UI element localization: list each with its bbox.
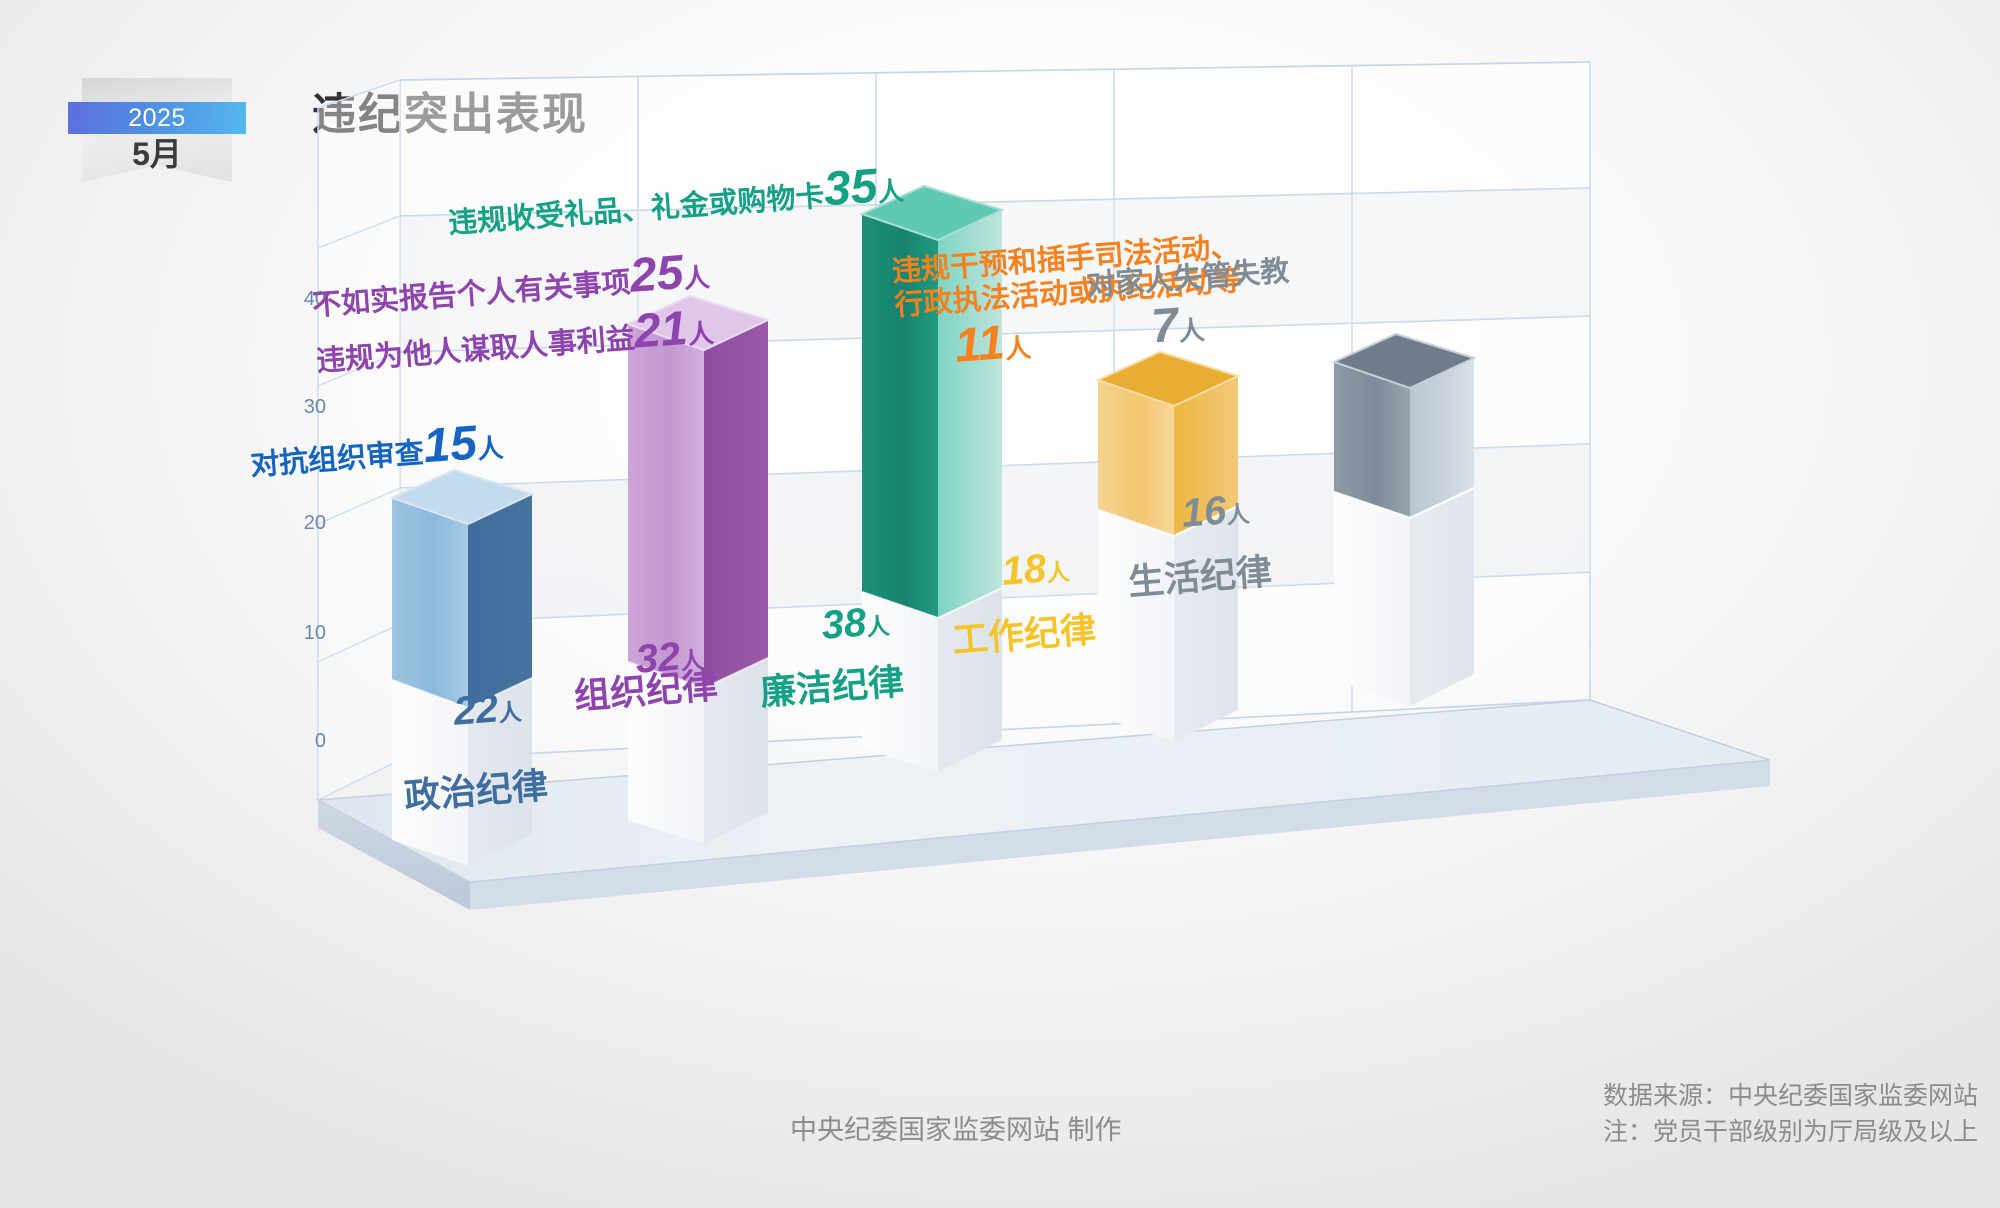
callout-political-unit: 人 [476, 433, 504, 465]
callout-political-value: 15 [422, 416, 479, 473]
infographic-canvas: 2025 5月 违纪突出表现 [0, 0, 2000, 1208]
value-life-number: 16 [1180, 489, 1228, 536]
footer-source: 数据来源：中央纪委国家监委网站 [1603, 1078, 1978, 1114]
bar-political[interactable] [392, 468, 562, 898]
value-political-unit: 人 [497, 699, 522, 727]
callout-life: 对家人失管失教 7人 [1085, 255, 1294, 359]
bar-life[interactable] [1334, 318, 1504, 818]
footer-notes: 数据来源：中央纪委国家监委网站 注：党员干部级别为厅局级及以上 [1603, 1078, 1978, 1151]
y-tick-30: 30 [280, 396, 326, 419]
callout-work-unit: 人 [1004, 333, 1032, 365]
value-life-unit: 人 [1225, 501, 1250, 529]
callout-political-text: 对抗组织审查 [249, 437, 425, 482]
callout-organizational-unit2: 人 [687, 318, 715, 350]
value-work-unit: 人 [1045, 559, 1070, 587]
footer-maker: 中央纪委国家监委网站 制作 [790, 1108, 1122, 1147]
footer-note: 注：党员干部级别为厅局级及以上 [1603, 1114, 1978, 1150]
callout-integrity-value: 35 [822, 160, 879, 217]
callout-organizational-unit1: 人 [683, 262, 711, 294]
y-tick-10: 10 [280, 622, 326, 645]
value-political-number: 22 [452, 687, 500, 734]
callout-integrity-unit: 人 [877, 176, 905, 208]
callout-work-value: 11 [953, 317, 1007, 374]
callout-life-unit: 人 [1177, 314, 1205, 346]
callout-organizational-value2: 21 [632, 302, 689, 359]
value-life: 16人 [1180, 487, 1251, 537]
value-integrity-unit: 人 [865, 613, 890, 641]
value-integrity-number: 38 [820, 601, 868, 648]
value-work-number: 18 [1000, 547, 1048, 594]
value-work: 18人 [1000, 545, 1071, 595]
y-tick-20: 20 [280, 512, 326, 535]
value-integrity: 38人 [820, 599, 891, 649]
value-political: 22人 [452, 685, 523, 735]
callout-life-value: 7 [1149, 298, 1180, 353]
callout-organizational-value1: 25 [628, 246, 685, 303]
bar-organizational[interactable] [628, 288, 798, 878]
y-tick-0: 0 [280, 730, 326, 753]
